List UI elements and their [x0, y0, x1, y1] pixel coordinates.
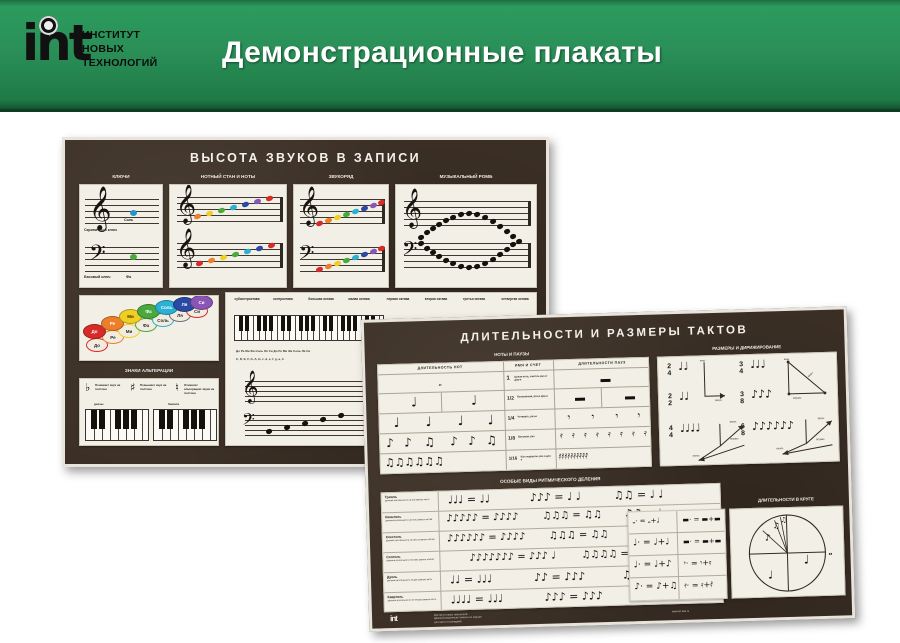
note-oval-color: Си	[190, 295, 213, 310]
section-label-circle: Длительности в круге	[729, 495, 843, 503]
sharp-icon: ♯	[130, 382, 135, 393]
triplet-notes: ♫♫ = ♩ ♩	[614, 488, 664, 500]
barline	[280, 243, 283, 268]
eighth-rest-icon: 𝄿	[632, 430, 635, 439]
duplet-notes: ♪♪ = ♪♪♪	[534, 571, 586, 583]
page-title: Демонстрационные плакаты	[222, 36, 662, 70]
time-signature-3-8: 38	[737, 391, 747, 405]
dotted-whole-note: 𝅝· = 𝅝+♩	[632, 518, 659, 526]
note-sol-marker	[130, 210, 137, 216]
section-label-meters: Размеры и дирижирование	[657, 343, 837, 353]
conducting-diagram-6-beat: вверх влево вправо	[776, 413, 839, 463]
eighth-rest-icon: 𝄿	[644, 430, 647, 439]
sixteenth-group-icon: ♫♫♫♫♫♫	[385, 456, 444, 469]
count-value: 1/4	[507, 416, 514, 422]
quarter-rest-icon: 𝄾	[615, 411, 618, 422]
division-desc: деление длительности на семь равных част…	[386, 559, 436, 563]
octave-label: третья октава	[457, 297, 491, 301]
colored-note	[315, 220, 323, 227]
keyboard-flats-label: бемоли	[168, 402, 179, 406]
poster-footer-text: Институт новых технологий Демонстрационн…	[434, 611, 554, 625]
eighth-rest-icon: 𝄿	[572, 432, 575, 441]
table-row: ♩· = ♩+♪ 𝄾· = 𝄾+𝄿	[629, 554, 726, 579]
quarter-rest-icon: 𝄾	[567, 412, 570, 423]
svg-text:𝅝: 𝅝	[828, 547, 832, 558]
eighth-rest-icon: 𝄿	[584, 432, 587, 441]
svg-text:вправо: вправо	[816, 438, 825, 441]
dotted-whole-rest: ▬· = ▬+▬	[682, 516, 720, 524]
svg-text:вправо: вправо	[793, 397, 802, 400]
table-row: 𝅝· = 𝅝+♩ ▬· = ▬+▬	[628, 510, 725, 535]
division-name: Септоль	[386, 555, 400, 559]
barline	[280, 197, 283, 222]
col-header-note-duration: Длительность нот	[378, 364, 502, 371]
count-name: Половинная, раз-и два-и	[517, 395, 551, 399]
dotted-eighth-note: ♪· = ♪+♫	[634, 582, 677, 592]
quarter-note-icon: ♩	[487, 414, 494, 427]
bass-clef-icon: 𝄢	[402, 239, 417, 263]
eighth-rest-icon: 𝄿	[608, 431, 611, 440]
treble-clef-icon: 𝄞	[242, 373, 259, 401]
time-signature-4-4: 44	[666, 425, 676, 439]
octave-label: малая октава	[342, 297, 376, 301]
logo-line-2: новых	[82, 42, 158, 56]
octave-label: вторая октава	[419, 297, 453, 301]
quintuplet-notes: ♫♫♫ = ♫♫	[542, 510, 602, 522]
svg-text:вниз: вниз	[700, 359, 706, 362]
footer-logo: int	[390, 614, 397, 623]
svg-text:♩: ♩	[803, 552, 809, 566]
time-signature-3-4: 34	[736, 361, 746, 375]
conducting-diagram-3-beat: вниз вправо вверх	[782, 355, 831, 402]
half-note-icon: ♩	[471, 395, 478, 408]
logo-line-1: Институт	[82, 28, 158, 42]
table-row: ♪· = ♪+♫ 𝄿· = 𝄿+𝅀	[630, 576, 727, 602]
quarter-rest-icon: 𝄾	[637, 410, 640, 421]
note-fa-marker	[130, 254, 137, 260]
count-name: Четверть, раз-и	[517, 415, 551, 419]
piano-keyboard-flats[interactable]	[153, 409, 217, 441]
barline	[528, 243, 531, 268]
page-header: int Институт новых технологий Демонстрац…	[0, 0, 900, 112]
col-header-name-count: Имя и счет	[504, 363, 552, 368]
quarter-note-icon: ♩	[457, 415, 464, 428]
dotted-half-note: ♩· = ♩+♩	[633, 538, 670, 548]
sextuplet-notes: ♪♪♪♪♪♪ = ♪♪♪♪	[447, 532, 526, 544]
conducting-diagram-4-beat: вверх влево вправо	[690, 415, 753, 465]
beat-notes-3-4: ♩♩♩	[750, 359, 766, 370]
logo-line-3: технологий	[82, 56, 158, 70]
bass-clef-name: Басовый ключ	[84, 275, 124, 280]
beat-notes-2-4: ♩♩	[678, 361, 689, 372]
octave-label: первая октава	[381, 297, 415, 301]
beat-notes-3-8: ♪♪♪	[751, 388, 772, 400]
treble-clef-icon: 𝄞	[89, 189, 111, 227]
quintuplet-notes: ♪♪♪♪♪ = ♪♪♪♪	[446, 513, 518, 525]
flat-desc: Понижает звук на полтона	[95, 384, 123, 392]
division-desc: деление длительности на две равные части	[387, 579, 437, 583]
octave-label: четвертая октава	[495, 297, 535, 301]
treble-clef-icon: 𝄞	[299, 189, 319, 223]
panel-dotted-notes[interactable]: 𝅝· = 𝅝+♩ ▬· = ▬+▬ ♩· = ♩+♩ ▬· = ▬+▬ ♩· =…	[627, 509, 727, 602]
logo-org-name: Институт новых технологий	[82, 28, 158, 70]
division-desc: деление длительности на шесть равных час…	[386, 539, 436, 543]
panel-accidentals[interactable]: ♭ Понижает звук на полтона ♯ Повышает зв…	[79, 378, 219, 446]
panel-note-colors[interactable]: До Ре Ми Фа Соль Ля Си До Ре Ми Фа Соль …	[79, 295, 219, 361]
poster-pitch-title: Высота звуков в записи	[65, 151, 546, 165]
svg-text:♪: ♪	[765, 533, 771, 543]
quarter-note-icon: ♩	[393, 417, 400, 430]
treble-clef-icon: 𝄞	[402, 191, 422, 225]
svg-text:вверх: вверх	[730, 420, 737, 423]
eighth-note-icon: ♪	[468, 435, 476, 447]
piano-keyboard-sharps[interactable]	[85, 409, 149, 441]
panel-musical-rhomb[interactable]: 𝄞 𝄢	[395, 184, 537, 288]
keyboard-letter-row: C, D, E, F, G, A, H, c, d, e, f, g, a, h	[236, 357, 284, 361]
logo-globe-icon	[39, 16, 58, 35]
eighth-rest-icon: 𝄿	[560, 432, 563, 441]
division-name: Квартоль	[387, 595, 403, 599]
natural-desc: Отменяет альтерацию звука на полтона	[184, 384, 216, 395]
int-logo[interactable]: int Институт новых технологий	[22, 12, 202, 84]
section-label-staff: Нотный стан и ноты	[169, 174, 287, 179]
duration-circle-diagram: ♪ ♫ ♫ ♩ ♩ 𝅝	[730, 506, 845, 598]
beat-notes-2-2: ♩♩	[679, 391, 690, 402]
eighth-rest-icon: 𝄿	[620, 431, 623, 440]
duplet-notes: ♩♩ = ♩♩♩	[450, 573, 492, 585]
quarter-note-icon: ♩	[425, 416, 432, 429]
poster-durations[interactable]: Длительности и размеры тактов Ноты и пау…	[361, 306, 856, 631]
panel-staff-and-notes[interactable]: 𝄞 𝄞	[169, 184, 287, 288]
note-fa-label: Фа	[126, 275, 131, 279]
table-row: ♩· = ♩+♩ ▬· = ▬+▬	[629, 532, 726, 557]
section-label-romb: Музыкальный ромб	[395, 174, 537, 179]
conducting-diagram-2-beat: вниз вверх	[698, 357, 733, 402]
section-label-zvukoryad: Звукоряд	[293, 174, 389, 179]
beamed-eighths-icon: ♫	[486, 434, 497, 446]
quadruplet-notes: ♩♩♩♩ = ♩♩♩	[450, 593, 503, 605]
svg-text:вниз: вниз	[784, 358, 790, 361]
panel-zvukoryad[interactable]: 𝄞 𝄢	[293, 184, 389, 288]
col-header-rest-duration: Длительности пауз	[554, 360, 650, 367]
svg-text:вверх: вверх	[818, 417, 825, 420]
septuplet-notes: ♪♪♪♪♪♪♪ = ♪♪♪ ♩	[469, 551, 556, 563]
dotted-quarter-note: ♩· = ♩+♪	[634, 560, 672, 570]
eighth-note-icon: ♪	[450, 435, 458, 447]
half-rest-icon	[575, 398, 585, 401]
division-desc: деление длительности на три равные части	[385, 499, 435, 503]
svg-text:♫: ♫	[780, 516, 787, 524]
whole-rest-icon	[600, 379, 610, 382]
division-name: Квинтоль	[385, 515, 401, 519]
section-label-klyuchi: Ключи	[79, 174, 163, 179]
svg-text:влево: влево	[776, 447, 784, 450]
sixteenth-rest-row-icon: 𝅀𝅀𝅀𝅀𝅀𝅀𝅀𝅀𝅀𝅀	[559, 453, 589, 462]
treble-clef-name: Скрипичный ключ	[84, 228, 124, 233]
dotted-half-rest: ▬· = ▬+▬	[683, 538, 721, 546]
svg-text:вверх: вверх	[715, 399, 722, 402]
svg-text:вправо: вправо	[730, 437, 739, 440]
keyboard-note-row: До Ре Ми Фа Соль Ля Си До Ре Ми Фа Соль …	[236, 349, 310, 353]
time-signature-2-2: 22	[665, 393, 675, 407]
keyboard-sharps-label: диезы	[94, 402, 103, 406]
footer-credit: www.int-edu.ru	[672, 610, 689, 613]
count-name: Восьмая, раз	[518, 435, 552, 439]
whole-note-icon: 𝅝	[438, 380, 441, 388]
treble-clef-icon: 𝄞	[176, 231, 196, 265]
half-rest-icon	[625, 396, 635, 399]
octave-label: контроктава	[266, 297, 300, 301]
note-sol-label: Соль	[124, 218, 133, 222]
svg-text:♩: ♩	[768, 568, 774, 581]
division-desc: деление длительности на четыре равные ча…	[388, 599, 438, 603]
eighth-rest-icon: 𝄿	[596, 431, 599, 440]
count-name: Целая нота, считать раз-и-два-и	[514, 375, 550, 382]
section-label-accidentals: Знаки альтерации	[79, 368, 219, 373]
count-value: 1/16	[509, 456, 518, 461]
count-value: 1	[506, 376, 510, 382]
count-value: 1/8	[508, 436, 515, 442]
division-name: Секстоль	[386, 535, 402, 539]
dotted-eighth-rest: 𝄿· = 𝄿+𝅀	[684, 581, 713, 590]
svg-text:влево: влево	[693, 454, 701, 457]
bass-clef-icon: 𝄢	[242, 411, 255, 431]
quarter-rest-icon: 𝄾	[591, 411, 594, 422]
poster-durations-title: Длительности и размеры тактов	[364, 321, 844, 346]
svg-text:♫: ♫	[773, 521, 780, 530]
division-name: Дуоль	[387, 575, 398, 579]
bass-clef-icon: 𝄢	[89, 243, 106, 269]
octave-label: большая октава	[302, 297, 340, 301]
svg-text:вверх: вверх	[807, 371, 814, 378]
octave-label: субконтроктава	[230, 297, 264, 301]
triplet-notes: ♪♪♪ = ♩ ♩	[530, 491, 581, 503]
flat-icon: ♭	[85, 382, 90, 393]
panel-clefs[interactable]: 𝄞 Соль Скрипичный ключ 𝄢 Фа Басовый ключ	[79, 184, 163, 288]
count-name: Шестнадцатая, раз-и-два-и	[521, 455, 553, 462]
triplet-notes: ♩♩♩ = ♩♩	[448, 493, 490, 505]
screenshot-root: int Институт новых технологий Демонстрац…	[0, 0, 900, 643]
half-note-icon: ♩	[411, 396, 418, 409]
quadruplet-notes: ♪♪♪ = ♪♪♪	[544, 590, 603, 603]
eighth-note-icon: ♪	[404, 436, 412, 448]
eighth-note-icon: ♪	[386, 437, 394, 449]
bass-clef-icon: 𝄢	[299, 243, 314, 267]
division-desc: деление длительности на пять равных част…	[385, 519, 435, 523]
sharp-desc: Повышает звук на полтона	[140, 384, 168, 392]
beamed-eighths-icon: ♫	[424, 436, 435, 448]
division-name: Триоль	[385, 495, 397, 499]
panel-meters-conducting[interactable]: 24 22 44 34 38 68 ♩♩ ♩♩ ♩♩♩♩ ♩♩♩ ♪♪♪ ♪♪♪…	[657, 352, 840, 467]
count-value: 1/2	[507, 396, 514, 402]
panel-durations-circle[interactable]: ♪ ♫ ♫ ♩ ♩ 𝅝	[729, 505, 845, 598]
sextuplet-notes: ♫♫♫ = ♫♫	[549, 530, 609, 542]
panel-notes-and-rests-table[interactable]: Длительность нот Имя и счет Длительности…	[377, 357, 652, 475]
dotted-quarter-rest: 𝄾· = 𝄾+𝄿	[684, 559, 712, 568]
time-signature-2-4: 24	[664, 363, 674, 377]
natural-icon: ♮	[175, 382, 179, 393]
barline	[528, 201, 531, 226]
